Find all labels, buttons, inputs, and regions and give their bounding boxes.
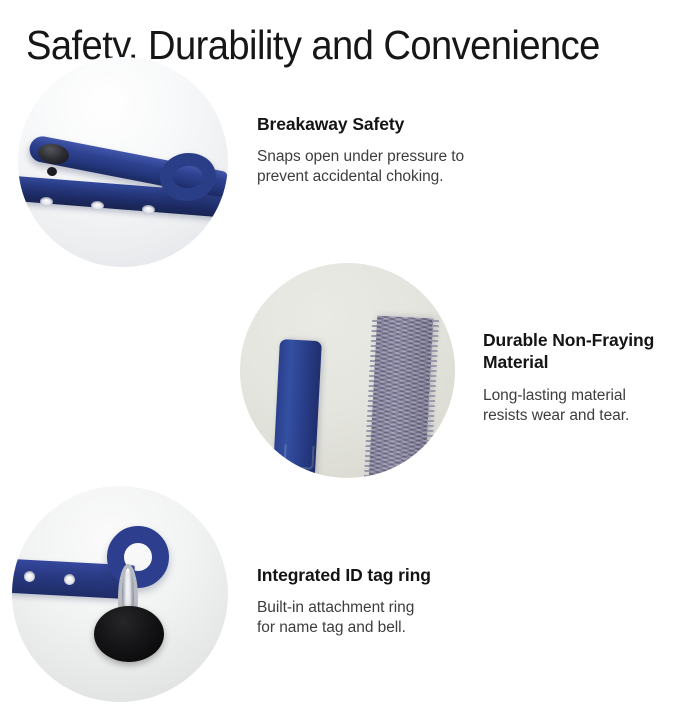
feature-heading: Integrated ID tag ring <box>257 564 557 586</box>
infographic-page: Safety, Durability and Convenience Break… <box>0 0 679 709</box>
woven-nylon-webbing <box>369 316 434 478</box>
feature-description: Long-lasting material resists wear and t… <box>483 386 679 425</box>
feature-block-id-tag-ring: Integrated ID tag ring Built-in attachme… <box>257 564 557 637</box>
feature-heading: Durable Non-Fraying Material <box>483 329 679 373</box>
strap-embossed-logo <box>283 444 314 470</box>
black-id-tag <box>94 606 164 662</box>
feature-image-durable-material <box>240 263 455 478</box>
photo-id-tag-ring <box>12 486 228 702</box>
photo-breakaway-buckle <box>18 57 228 267</box>
feature-block-durable-material: Durable Non-Fraying Material Long-lastin… <box>483 329 679 425</box>
snap-pin <box>46 166 57 177</box>
grommet-hole <box>91 201 105 211</box>
feature-heading: Breakaway Safety <box>257 113 557 135</box>
feature-image-id-tag-ring <box>12 486 228 702</box>
grommet-hole <box>142 205 156 215</box>
feature-image-breakaway-safety <box>18 57 228 267</box>
feature-description: Snaps open under pressure to prevent acc… <box>257 147 557 186</box>
feature-block-breakaway-safety: Breakaway Safety Snaps open under pressu… <box>257 113 557 186</box>
integrated-tag-ring <box>107 526 169 588</box>
feature-description: Built-in attachment ring for name tag an… <box>257 598 557 637</box>
grommet-hole <box>40 197 54 207</box>
photo-material-comparison <box>240 263 455 478</box>
